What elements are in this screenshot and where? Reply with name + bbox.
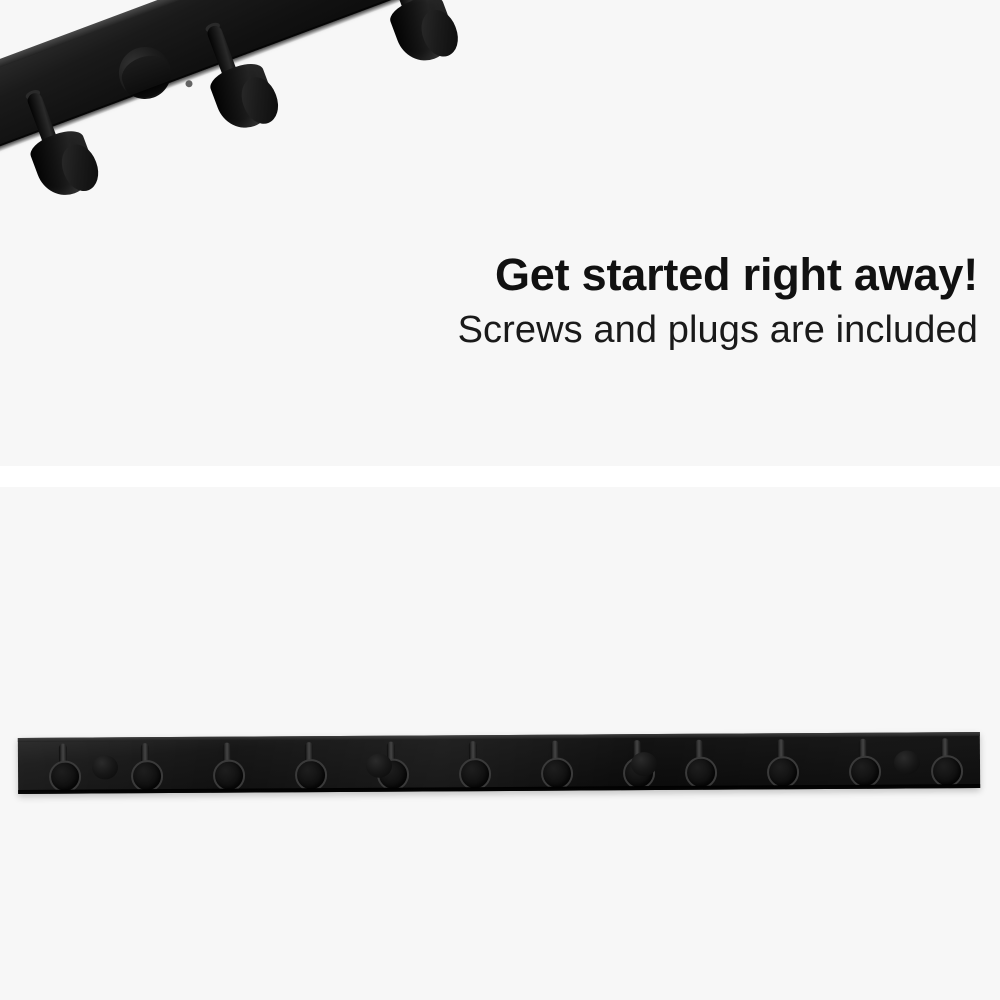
angled-coat-rack-photo [0, 0, 690, 430]
top-headline: Get started right away! [458, 252, 978, 297]
hook-ring [931, 755, 963, 787]
rail-screw-cap-3 [631, 752, 657, 776]
rail-hook-3 [210, 743, 244, 791]
angled-hook-3 [374, 0, 460, 69]
rail-screw-cap-4 [894, 750, 920, 774]
top-subline: Screws and plugs are included [458, 311, 978, 349]
hook-ring [131, 760, 163, 792]
rail-hook-1 [46, 744, 80, 792]
rail-hook-4 [292, 742, 326, 790]
full-rail-photo [0, 487, 1000, 1000]
panel-top: Get started right away! Screws and plugs… [0, 0, 1000, 466]
hook-ring [849, 756, 881, 788]
rail-hook-10 [764, 739, 798, 787]
rail-hook-6 [456, 741, 490, 789]
angled-rack-board [0, 0, 641, 181]
panel-bottom: Modern design Fits almost any interoir [0, 487, 1000, 1000]
hook-peg [553, 0, 627, 6]
top-copy-block: Get started right away! Screws and plugs… [458, 252, 978, 349]
hook-ring [459, 758, 491, 790]
rail-hook-7 [538, 741, 572, 789]
rail-hook-2 [128, 743, 162, 791]
product-feature-image: Get started right away! Screws and plugs… [0, 0, 1000, 1000]
hook-ring [685, 757, 717, 789]
hook-ring [213, 760, 245, 792]
rail-hook-9 [682, 740, 716, 788]
rail-hook-12 [928, 738, 962, 786]
hook-ring [767, 756, 799, 788]
rail-screw-cap-1 [92, 755, 118, 779]
rail-screw-cap-2 [366, 754, 392, 778]
panel-divider [0, 466, 1000, 487]
hook-ring [49, 761, 81, 793]
rail-hook-11 [846, 739, 880, 787]
hook-ring [541, 758, 573, 790]
hook-ring [295, 759, 327, 791]
coat-rack-rail [18, 732, 980, 794]
angled-hook-4 [541, 0, 627, 6]
